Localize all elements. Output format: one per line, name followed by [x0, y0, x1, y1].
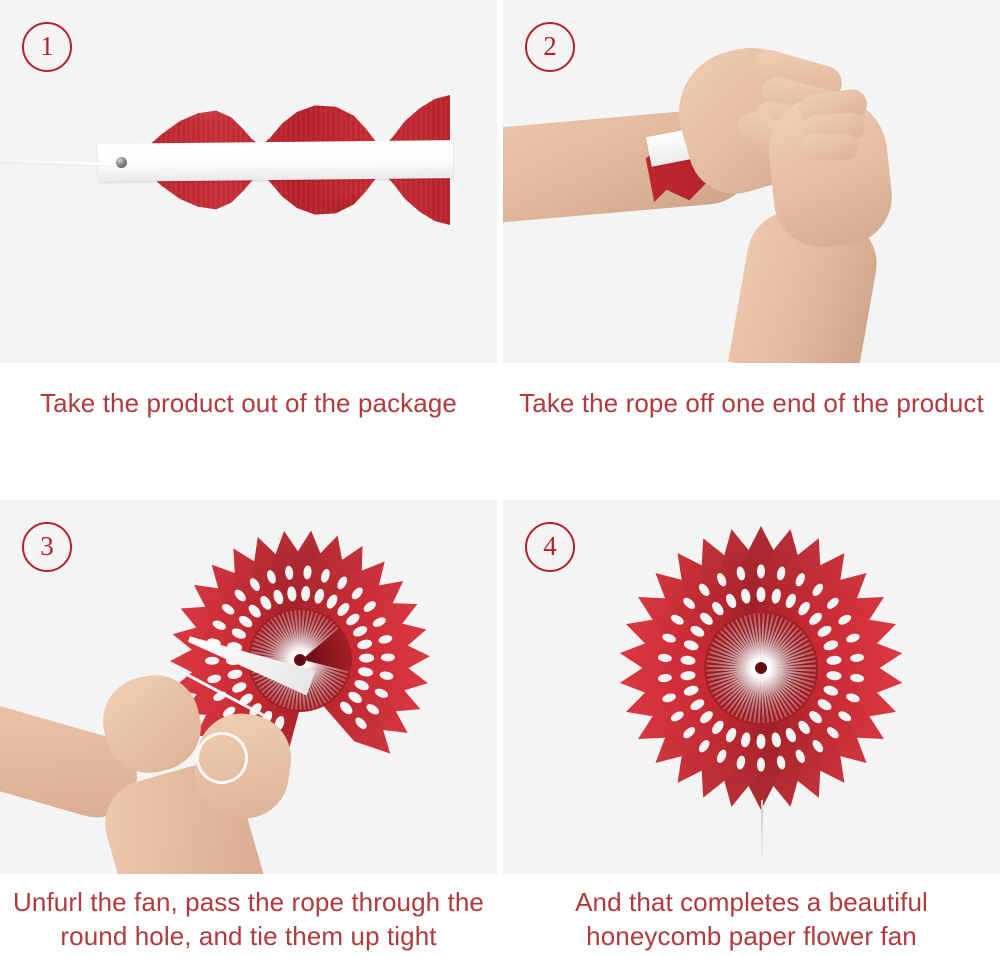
fan-cutout — [757, 734, 766, 749]
step-2-scene — [503, 0, 1000, 363]
step-1-caption: Take the product out of the package — [0, 386, 497, 420]
step-3-caption: Unfurl the fan, pass the rope through th… — [0, 885, 497, 953]
step-number-badge-3: 3 — [22, 522, 72, 572]
step-4-scene — [503, 500, 1000, 874]
hanging-string — [761, 800, 763, 860]
fan-cutout — [757, 564, 765, 578]
folded-fan-product — [150, 95, 450, 225]
right-finger — [801, 134, 859, 160]
instruction-sheet: 1 Take the product out of the package 2 … — [0, 0, 1000, 956]
step-3-scene — [0, 500, 497, 874]
step-number-badge-4: 4 — [525, 522, 575, 572]
cardboard-strip — [98, 140, 453, 182]
fan-cutout — [205, 657, 219, 665]
step-1-photo — [0, 0, 497, 363]
step-4-caption: And that completes a beautiful honeycomb… — [503, 885, 1000, 953]
fan-hub — [294, 654, 306, 666]
fan-cutout — [757, 758, 765, 772]
fan-hub — [755, 662, 767, 674]
step-2-caption: Take the rope off one end of the product — [503, 386, 1000, 420]
step-number-badge-2: 2 — [525, 22, 575, 72]
paper-fan-complete — [619, 526, 903, 810]
eyelet-icon — [116, 157, 127, 168]
step-number-badge-1: 1 — [22, 22, 72, 72]
